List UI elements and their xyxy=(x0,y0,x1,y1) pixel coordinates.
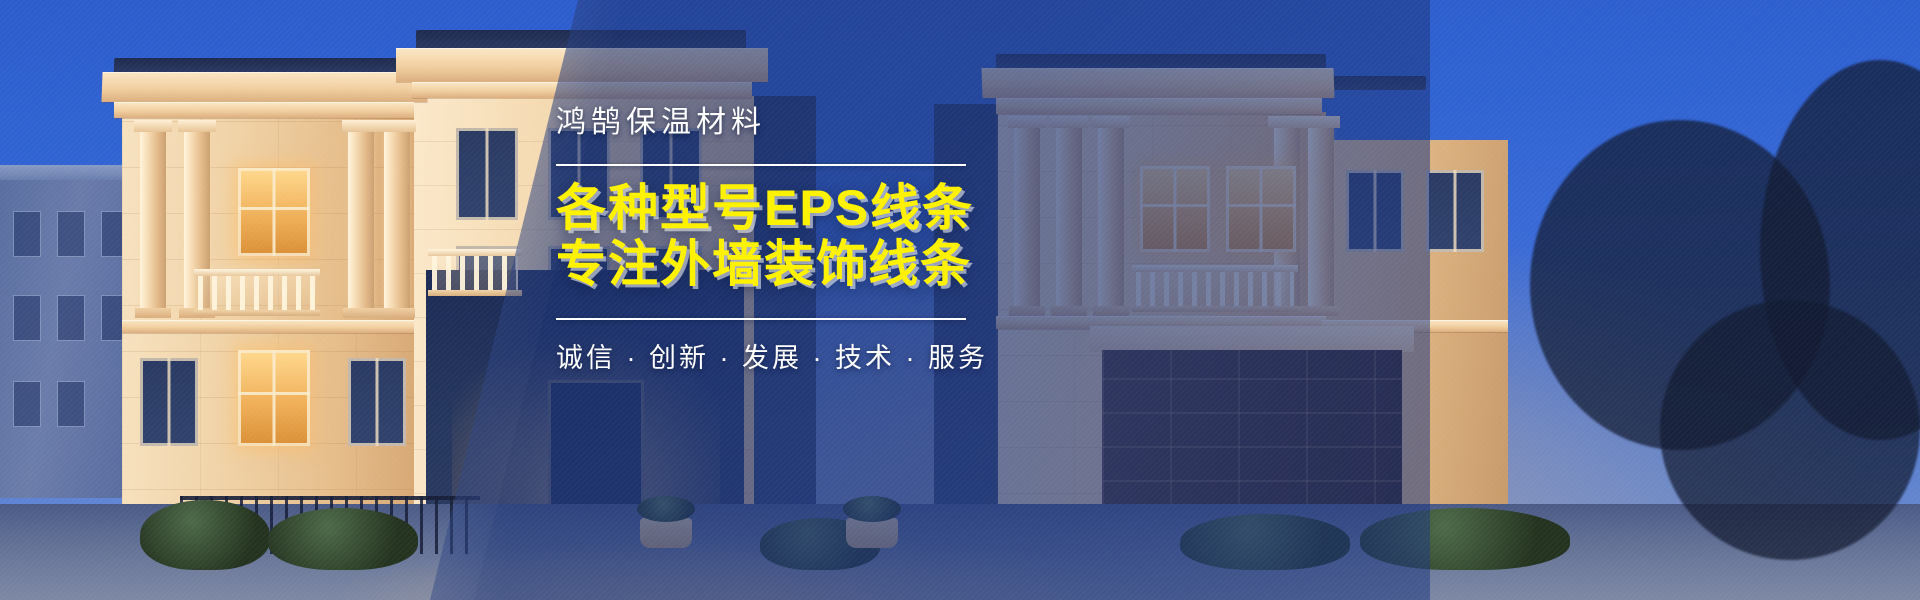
distant-window xyxy=(58,296,84,340)
lit-window xyxy=(238,168,310,256)
cornice-band xyxy=(122,320,414,333)
distant-window xyxy=(14,296,40,340)
distant-window xyxy=(58,212,84,256)
dark-window xyxy=(140,358,198,446)
distant-window xyxy=(14,382,40,426)
divider-top xyxy=(556,164,966,166)
balustrade xyxy=(198,276,316,310)
dark-window xyxy=(348,358,406,446)
divider-bottom xyxy=(556,318,966,320)
distant-window xyxy=(14,212,40,256)
shrub xyxy=(140,500,270,570)
cornice-band xyxy=(114,102,414,118)
column xyxy=(348,132,374,308)
tagline: 诚信 · 创新 · 发展 · 技术 · 服务 xyxy=(556,336,1026,375)
tree-silhouette xyxy=(1660,300,1920,560)
distant-window xyxy=(58,382,84,426)
banner-copy: 鸿鹄保温材料 各种型号EPS线条 专注外墙装饰线条 诚信 · 创新 · 发展 ·… xyxy=(556,104,1026,375)
column xyxy=(384,132,410,308)
dark-window xyxy=(456,128,518,220)
balustrade xyxy=(432,256,518,290)
shrub xyxy=(268,508,418,570)
lit-window xyxy=(238,350,310,446)
headline-line-1: 各种型号EPS线条 xyxy=(556,180,974,236)
cornice-band xyxy=(101,72,428,102)
brand-name: 鸿鹄保温材料 xyxy=(556,104,1026,142)
hero-banner: 鸿鹄保温材料 各种型号EPS线条 专注外墙装饰线条 诚信 · 创新 · 发展 ·… xyxy=(0,0,1920,600)
headline: 各种型号EPS线条 专注外墙装饰线条 xyxy=(556,180,1026,292)
dark-window xyxy=(1426,170,1484,252)
column xyxy=(140,132,166,308)
headline-line-2: 专注外墙装饰线条 xyxy=(556,236,1026,292)
